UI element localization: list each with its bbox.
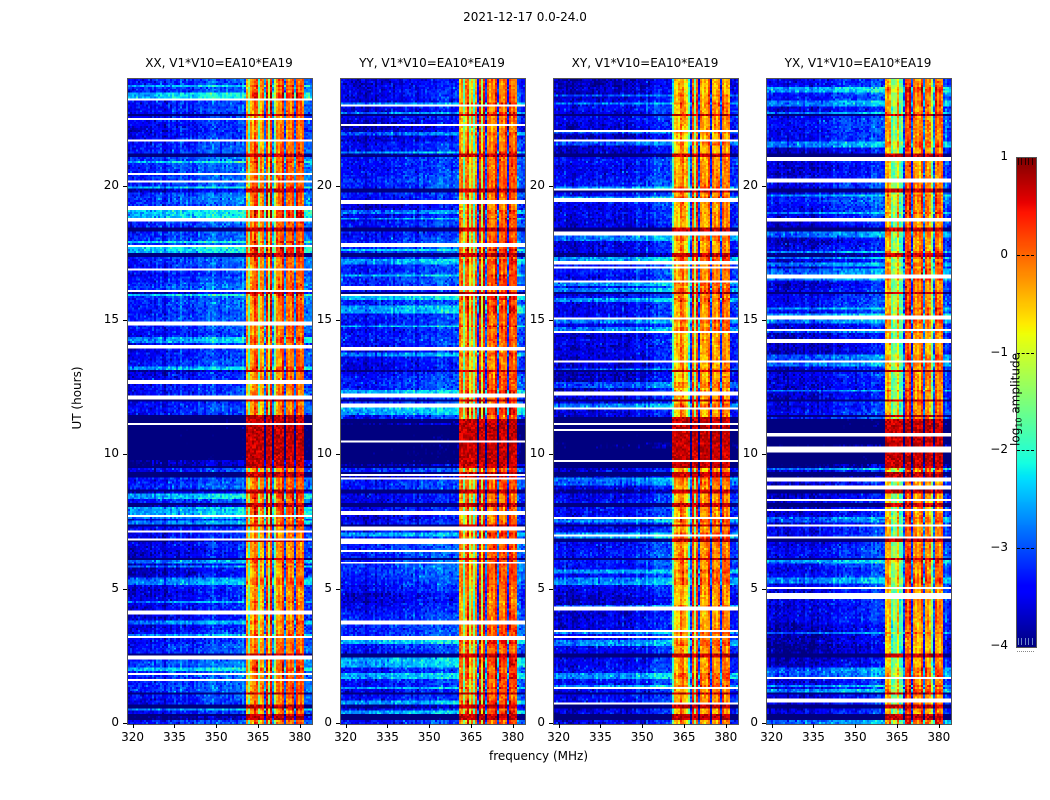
y-tick-label: 20	[507, 178, 545, 192]
x-tick-mark	[684, 724, 685, 728]
y-tick-label: 5	[294, 581, 332, 595]
x-tick-label: 380	[488, 730, 538, 744]
y-tick-mark	[336, 320, 340, 321]
y-tick-label: 15	[507, 312, 545, 326]
y-tick-mark	[549, 723, 553, 724]
colorbar-extend-hatch	[1025, 158, 1026, 165]
spectrum-image	[341, 79, 525, 724]
y-tick-mark	[762, 320, 766, 321]
y-tick-label: 20	[81, 178, 119, 192]
colorbar-label: log10 amplitude	[1009, 319, 1024, 479]
colorbar-extend-hatch	[1021, 638, 1022, 645]
x-tick-mark	[346, 724, 347, 728]
colorbar-tick-label: 1	[970, 149, 1008, 163]
x-tick-mark	[600, 724, 601, 728]
colorbar-tick-label: −2	[970, 442, 1008, 456]
y-tick-mark	[336, 723, 340, 724]
y-tick-mark	[762, 454, 766, 455]
y-tick-mark	[549, 186, 553, 187]
x-tick-mark	[855, 724, 856, 728]
x-tick-mark	[813, 724, 814, 728]
spectrum-panel-xy	[553, 78, 739, 725]
spectrum-panel-xx	[127, 78, 313, 725]
x-tick-mark	[559, 724, 560, 728]
y-tick-label: 15	[81, 312, 119, 326]
colorbar-underflow-marker	[1017, 651, 1034, 652]
x-tick-mark	[429, 724, 430, 728]
colorbar-extend-hatch	[1021, 158, 1022, 165]
y-tick-label: 0	[81, 715, 119, 729]
y-tick-mark	[123, 723, 127, 724]
colorbar-tick-mark	[1017, 548, 1034, 550]
y-tick-mark	[762, 589, 766, 590]
y-tick-mark	[762, 723, 766, 724]
y-tick-mark	[336, 589, 340, 590]
colorbar-extend-hatch	[1028, 638, 1029, 645]
y-tick-label: 10	[720, 446, 758, 460]
colorbar-extend-hatch	[1032, 638, 1033, 645]
x-tick-mark	[258, 724, 259, 728]
colorbar-extend-hatch	[1018, 158, 1019, 165]
y-tick-mark	[123, 454, 127, 455]
x-tick-label: 380	[275, 730, 325, 744]
colorbar-tick-label: −4	[970, 638, 1008, 652]
spectrum-image	[128, 79, 312, 724]
colorbar-tick-label: −3	[970, 540, 1008, 554]
y-tick-mark	[336, 454, 340, 455]
y-tick-label: 0	[720, 715, 758, 729]
y-tick-label: 10	[507, 446, 545, 460]
x-tick-mark	[133, 724, 134, 728]
colorbar-tick-mark	[1017, 255, 1034, 257]
x-tick-mark	[471, 724, 472, 728]
colorbar-tick-label: −1	[970, 345, 1008, 359]
y-tick-label: 5	[720, 581, 758, 595]
x-tick-mark	[897, 724, 898, 728]
x-tick-label: 380	[701, 730, 751, 744]
spectrum-panel-yy	[340, 78, 526, 725]
spectrum-image	[554, 79, 738, 724]
y-tick-label: 20	[720, 178, 758, 192]
colorbar-extend-hatch	[1032, 158, 1033, 165]
x-tick-mark	[216, 724, 217, 728]
spectrum-panel-yx	[766, 78, 952, 725]
y-tick-label: 0	[507, 715, 545, 729]
y-tick-label: 20	[294, 178, 332, 192]
colorbar-extend-hatch	[1025, 638, 1026, 645]
y-axis-label: UT (hours)	[70, 318, 84, 478]
x-axis-label: frequency (MHz)	[439, 749, 639, 763]
y-tick-mark	[123, 186, 127, 187]
spectrum-image	[767, 79, 951, 724]
x-tick-mark	[642, 724, 643, 728]
x-tick-mark	[939, 724, 940, 728]
y-tick-label: 15	[720, 312, 758, 326]
y-tick-mark	[549, 454, 553, 455]
x-tick-label: 380	[914, 730, 964, 744]
x-tick-mark	[387, 724, 388, 728]
y-tick-label: 15	[294, 312, 332, 326]
figure-suptitle: 2021-12-17 0.0-24.0	[0, 10, 1050, 24]
y-tick-label: 10	[294, 446, 332, 460]
y-tick-mark	[549, 589, 553, 590]
y-tick-label: 0	[294, 715, 332, 729]
y-tick-mark	[336, 186, 340, 187]
colorbar-extend-hatch	[1018, 638, 1019, 645]
y-tick-label: 5	[507, 581, 545, 595]
colorbar-tick-label: 0	[970, 247, 1008, 261]
y-tick-mark	[123, 320, 127, 321]
x-tick-mark	[772, 724, 773, 728]
y-tick-label: 10	[81, 446, 119, 460]
colorbar-extend-hatch	[1028, 158, 1029, 165]
y-tick-mark	[123, 589, 127, 590]
y-tick-mark	[549, 320, 553, 321]
panel-title-yx: YX, V1*V10=EA10*EA19	[706, 56, 1010, 70]
x-tick-mark	[174, 724, 175, 728]
figure-canvas: 2021-12-17 0.0-24.0 XX, V1*V10=EA10*EA19…	[0, 0, 1050, 800]
y-tick-mark	[762, 186, 766, 187]
y-tick-label: 5	[81, 581, 119, 595]
